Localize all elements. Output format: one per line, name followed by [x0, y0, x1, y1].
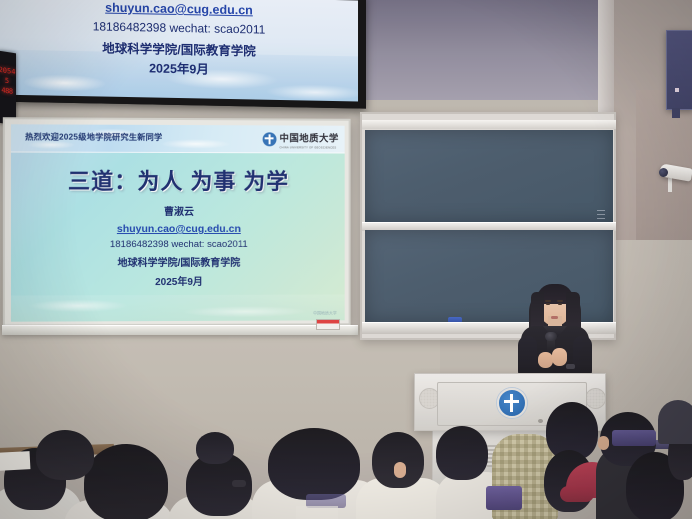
- audience-shirt: [658, 400, 692, 444]
- lecture-hall-photo: Caoshuyun shuyun.cao@cug.edu.cn 18186482…: [0, 0, 692, 519]
- microphone-head-icon: [545, 332, 557, 341]
- university-name-cn: 中国地质大学: [279, 134, 338, 144]
- monitor-phone-wechat: 18186482398 wechat: scao2011: [0, 18, 358, 39]
- monitor-email: shuyun.cao@cug.edu.cn: [0, 0, 358, 19]
- speaker-hand-right: [552, 348, 567, 366]
- university-name-en: CHINA UNIVERSITY OF GEOSCIENCES: [279, 146, 338, 149]
- podium-cug-emblem-icon: [497, 388, 527, 418]
- slide-footer-wave-graphic: [11, 294, 345, 321]
- wall-panel-indicator-icon: [675, 88, 679, 92]
- speaker-eye-right: [558, 303, 562, 305]
- blackboard-top-rail: [362, 120, 616, 129]
- led-line-3: 488: [0, 85, 16, 98]
- speaker-mouth: [551, 316, 558, 319]
- overhead-monitor-screen: Caoshuyun shuyun.cao@cug.edu.cn 18186482…: [0, 0, 358, 102]
- podium-speaker-grille-right: [585, 388, 606, 409]
- speaker-hand-left: [538, 352, 553, 368]
- overhead-monitor: Caoshuyun shuyun.cao@cug.edu.cn 18186482…: [0, 0, 366, 109]
- paper-sheet: [296, 506, 338, 519]
- slide-email: shuyun.cao@cug.edu.cn: [11, 223, 345, 235]
- audience-head: [372, 432, 424, 488]
- audience-head: [268, 428, 360, 500]
- chalk-box: [316, 319, 340, 330]
- speaker-watch: [566, 364, 575, 369]
- slide-contact-block: 曹淑云 shuyun.cao@cug.edu.cn 18186482398 we…: [11, 203, 345, 289]
- audience-hair-bun: [196, 432, 234, 464]
- wall-panel-mount: [672, 108, 680, 118]
- university-logo: 中国地质大学 CHINA UNIVERSITY OF GEOSCIENCES: [263, 128, 339, 149]
- speaker-eye-left: [546, 303, 550, 305]
- auditorium-seat: [612, 430, 656, 446]
- red-cap-brim: [560, 486, 594, 502]
- camera-lens-icon: [659, 168, 668, 177]
- slide-banner-text: 热烈欢迎2025级地学院研究生新同学: [25, 130, 162, 143]
- projection-screen: 热烈欢迎2025级地学院研究生新同学 中国地质大学 CHINA UNIVERSI…: [3, 117, 351, 327]
- podium-lock-icon: [538, 419, 543, 423]
- slide-watermark: 中国地质大学: [313, 310, 337, 316]
- audience-head: [436, 426, 488, 480]
- slide-phone-wechat: 18186482398 wechat: scao2011: [11, 239, 345, 250]
- slide-title: 三道：为人 为事 为学: [11, 164, 345, 197]
- audience-ear: [598, 436, 609, 450]
- slide-date: 2025年9月: [11, 273, 345, 289]
- audience-head: [36, 430, 94, 480]
- audience-ear: [394, 462, 406, 478]
- speaker-eyebrow-right: [557, 300, 563, 302]
- slide-banner: 热烈欢迎2025级地学院研究生新同学 中国地质大学 CHINA UNIVERSI…: [11, 124, 345, 153]
- cug-emblem-icon: [263, 132, 277, 146]
- speaker-eyebrow-left: [545, 300, 551, 302]
- presentation-slide: 热烈欢迎2025级地学院研究生新同学 中国地质大学 CHINA UNIVERSI…: [11, 124, 345, 321]
- camera-mount: [668, 178, 672, 192]
- auditorium-seat: [486, 486, 522, 510]
- wall-display-panel: [666, 30, 692, 110]
- led-sign: 2054 5 488: [0, 51, 16, 126]
- slide-department: 地球科学学院/国际教育学院: [11, 254, 345, 270]
- audience-head: [84, 444, 168, 519]
- paper-sheet: [0, 451, 30, 471]
- screen-chalk-tray: [2, 325, 358, 335]
- audience-glasses-icon: [232, 480, 246, 487]
- slide-presenter-name: 曹淑云: [11, 203, 345, 218]
- blackboard-panel-top: [365, 130, 613, 222]
